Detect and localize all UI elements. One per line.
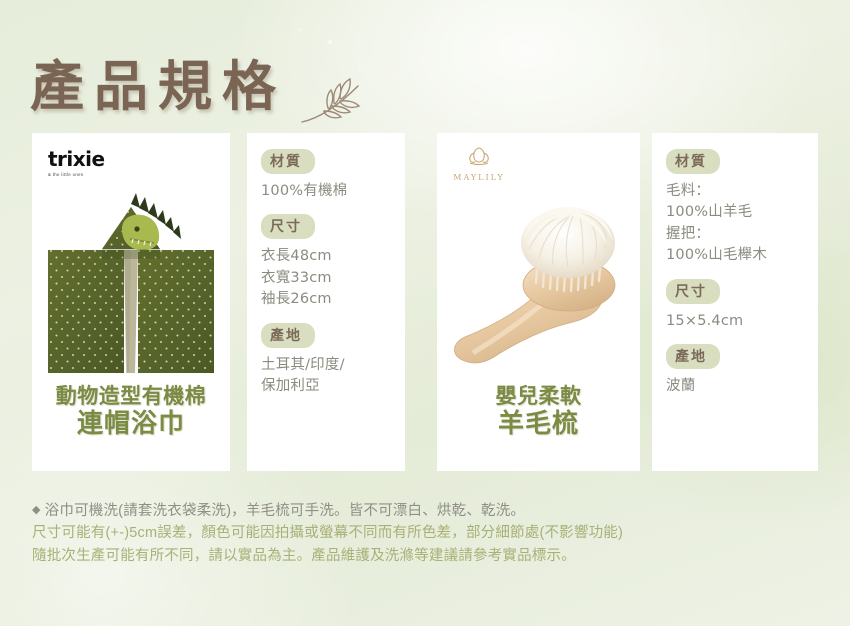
bullet-icon: ◆ [32,504,41,516]
spec-group-material: 材質 毛料： 100%山羊毛 握把： 100%山毛櫸木 [666,149,818,267]
note-line-2: 尺寸可能有(+-)5cm誤差，顏色可能因拍攝或螢幕不同而有所色差，部分細節處(不… [32,522,822,544]
spec-value-line: 袖長26cm [261,289,405,310]
product-name-line2: 連帽浴巾 [32,409,230,440]
spec-label: 材質 [261,149,315,174]
spec-value-line: 100%山羊毛 [666,202,818,223]
spec-value-line: 衣寬33cm [261,268,405,289]
brand-logo-trixie: trixie & the little ones [48,149,105,176]
spec-label: 材質 [666,149,720,174]
spec-values: 土耳其/印度/ 保加利亞 [261,355,405,398]
dinosaur-hooded-towel-image [32,177,230,377]
olive-sprig-icon [300,76,370,128]
spec-value-line: 15×5.4cm [666,311,818,332]
spec-values: 波蘭 [666,376,818,397]
spec-list-right: 材質 毛料： 100%山羊毛 握把： 100%山毛櫸木 尺寸 15×5.4cm … [666,149,818,410]
spec-group-material: 材質 100%有機棉 [261,149,405,202]
spec-group-origin: 產地 波蘭 [666,344,818,397]
product-name-left: 動物造型有機棉 連帽浴巾 [32,384,230,439]
brand-name: trixie [48,149,105,169]
wooden-baby-hair-brush-image [437,193,640,383]
footer-notes: ◆浴巾可機洗(請套洗衣袋柔洗)，羊毛梳可手洗。皆不可漂白、烘乾、乾洗。 尺寸可能… [32,500,822,567]
spec-group-size: 尺寸 15×5.4cm [666,279,818,332]
brand-name: MAYLILY [451,173,507,182]
note-line-1: ◆浴巾可機洗(請套洗衣袋柔洗)，羊毛梳可手洗。皆不可漂白、烘乾、乾洗。 [32,500,822,522]
spec-values: 衣長48cm 衣寬33cm 袖長26cm [261,246,405,310]
brand-logo-maylily: MAYLILY [451,145,507,182]
spec-values: 100%有機棉 [261,181,405,202]
spec-label: 尺寸 [261,214,315,239]
product-spec-infographic: 產品規格 trixie & the little ones [0,0,850,626]
spec-value-line: 100%山毛櫸木 [666,245,818,266]
header: 產品規格 [0,18,850,118]
spec-value-line: 毛料： [666,181,818,202]
product-name-line1: 動物造型有機棉 [32,384,230,409]
spec-value-line: 波蘭 [666,376,818,397]
product-photo-card-left: trixie & the little ones [32,133,230,471]
lily-mark-icon [465,145,493,167]
spec-value-line: 土耳其/印度/ [261,355,405,376]
spec-label: 尺寸 [666,279,720,304]
page-title: 產品規格 [30,42,286,121]
product-spec-card-left: 材質 100%有機棉 尺寸 衣長48cm 衣寬33cm 袖長26cm 產地 土耳… [247,133,405,471]
spec-group-origin: 產地 土耳其/印度/ 保加利亞 [261,323,405,398]
product-name-right: 嬰兒柔軟 羊毛梳 [437,384,640,439]
spec-value-line: 保加利亞 [261,376,405,397]
spec-list-left: 材質 100%有機棉 尺寸 衣長48cm 衣寬33cm 袖長26cm 產地 土耳… [261,149,405,410]
product-spec-card-right: 材質 毛料： 100%山羊毛 握把： 100%山毛櫸木 尺寸 15×5.4cm … [652,133,818,471]
product-name-line1: 嬰兒柔軟 [437,384,640,409]
note-line-3: 隨批次生產可能有所不同，請以實品為主。產品維護及洗滌等建議請參考實品標示。 [32,545,822,567]
product-photo-card-right: MAYLILY [437,133,640,471]
note-text: 浴巾可機洗(請套洗衣袋柔洗)，羊毛梳可手洗。皆不可漂白、烘乾、乾洗。 [45,503,525,519]
spec-value-line: 握把： [666,224,818,245]
spec-value-line: 100%有機棉 [261,181,405,202]
spec-values: 毛料： 100%山羊毛 握把： 100%山毛櫸木 [666,181,818,267]
spec-group-size: 尺寸 衣長48cm 衣寬33cm 袖長26cm [261,214,405,310]
spec-values: 15×5.4cm [666,311,818,332]
spec-label: 產地 [666,344,720,369]
spec-label: 產地 [261,323,315,348]
product-name-line2: 羊毛梳 [437,409,640,440]
spec-value-line: 衣長48cm [261,246,405,267]
